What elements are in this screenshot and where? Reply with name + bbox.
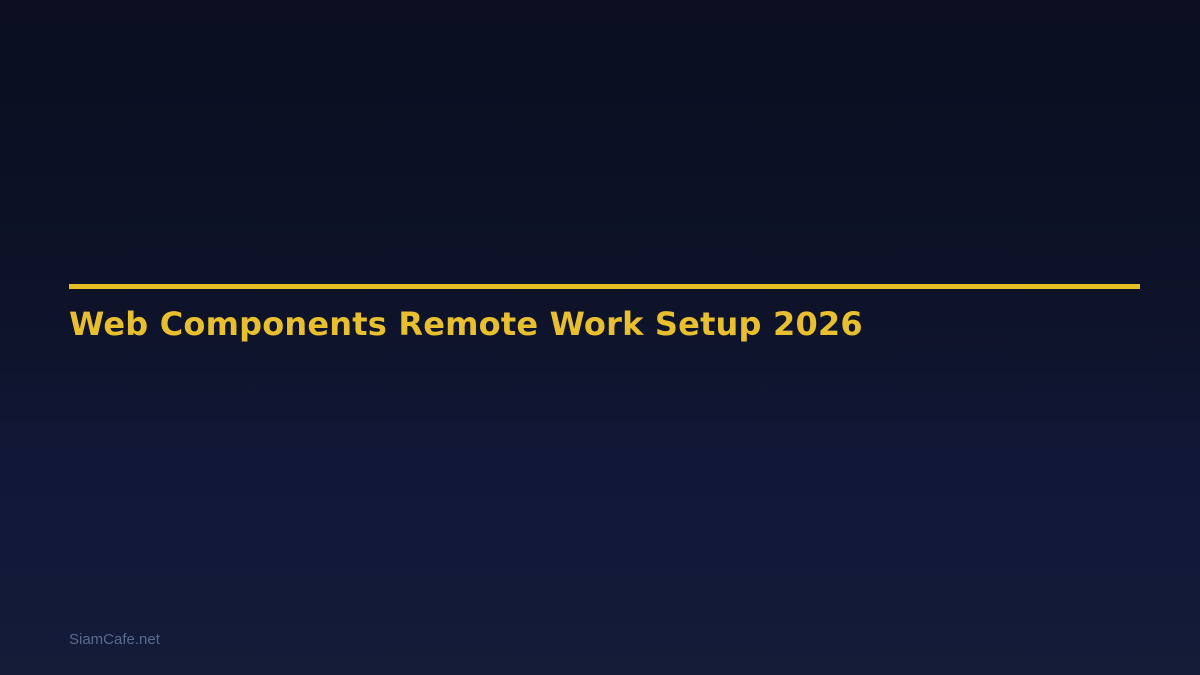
page-title: Web Components Remote Work Setup 2026: [69, 306, 863, 342]
title-accent-rule: [69, 284, 1140, 289]
footer-source-label: SiamCafe.net: [69, 630, 160, 649]
presentation-slide: Web Components Remote Work Setup 2026 Si…: [0, 0, 1200, 675]
